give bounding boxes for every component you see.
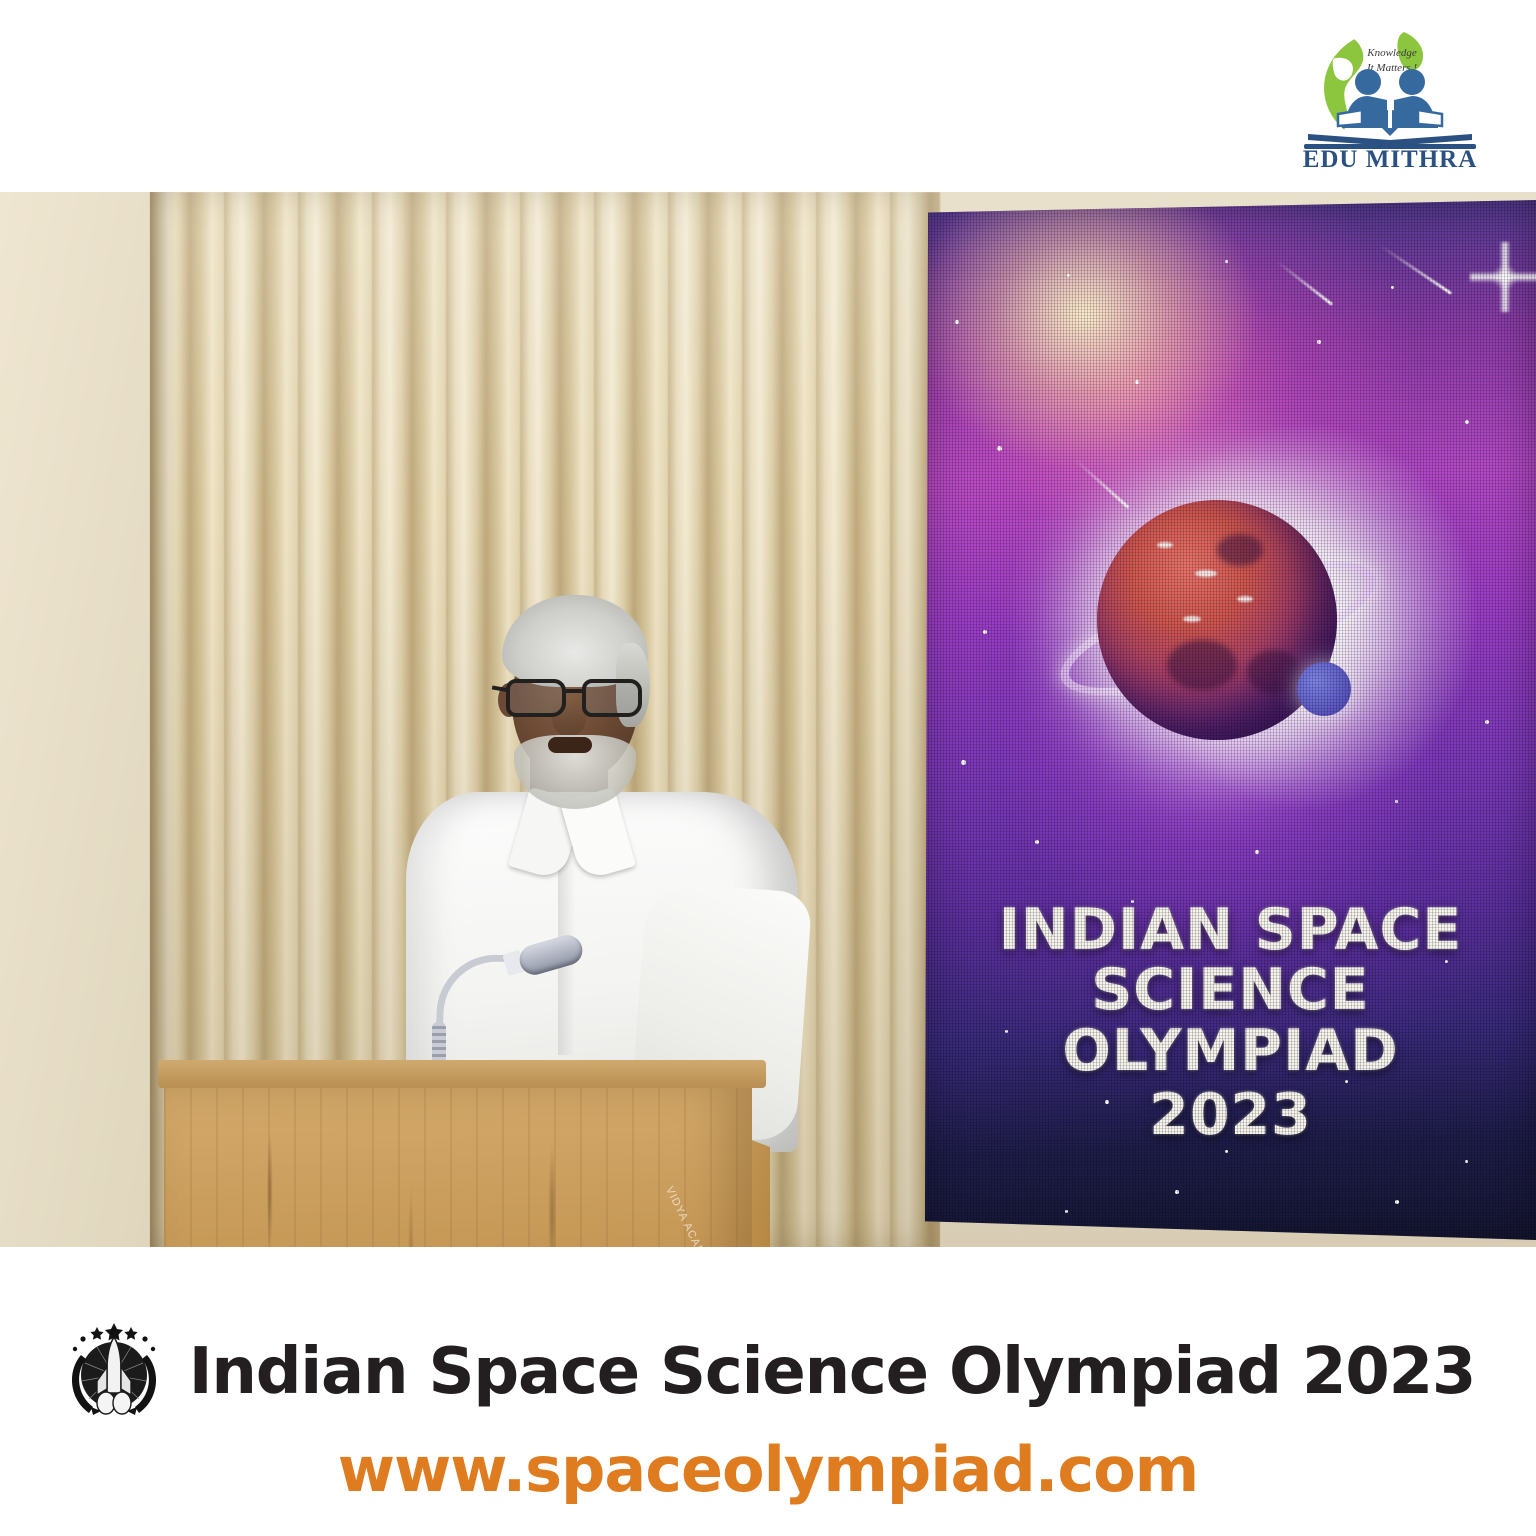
event-photo: INDIAN SPACE SCIENCE OLYMPIAD 2023 <box>0 192 1536 1247</box>
meteor-streak <box>1379 244 1452 295</box>
page-footer: Indian Space Science Olympiad 2023 www.s… <box>0 1247 1536 1536</box>
podium-front <box>164 1082 752 1247</box>
poster-title-line-3: 2023 <box>925 1085 1536 1145</box>
page-header: Knowledge It Matters ! EDU MITHRA <box>0 0 1536 192</box>
footer-title: Indian Space Science Olympiad 2023 <box>189 1335 1476 1409</box>
edu-mithra-name: EDU MITHRA <box>1286 146 1494 174</box>
poster-title: INDIAN SPACE SCIENCE OLYMPIAD 2023 <box>925 900 1536 1146</box>
glasses-bridge <box>566 689 584 693</box>
podium-top-ledge <box>158 1060 766 1088</box>
footer-title-row: Indian Space Science Olympiad 2023 <box>0 1319 1536 1425</box>
tagline-line-1: Knowledge <box>1367 47 1417 59</box>
poster-title-line-1: INDIAN SPACE <box>925 900 1536 960</box>
moon-graphic <box>1297 662 1351 716</box>
sparkle-star-icon <box>1470 242 1536 312</box>
lens-left <box>506 679 566 717</box>
poster-title-line-2: SCIENCE OLYMPIAD <box>925 960 1536 1081</box>
rocket-laurel-emblem-icon <box>61 1319 167 1425</box>
meteor-streak <box>1276 260 1333 305</box>
event-led-poster: INDIAN SPACE SCIENCE OLYMPIAD 2023 <box>925 200 1536 1240</box>
footer-website-url[interactable]: www.spaceolympiad.com <box>0 1433 1536 1506</box>
eyeglasses <box>506 679 646 719</box>
lens-right <box>582 679 642 717</box>
wood-grain <box>164 1082 752 1247</box>
meteor-streak <box>1074 458 1130 508</box>
mouth <box>548 737 592 753</box>
edu-mithra-logo: Knowledge It Matters ! EDU MITHRA <box>1286 28 1494 180</box>
